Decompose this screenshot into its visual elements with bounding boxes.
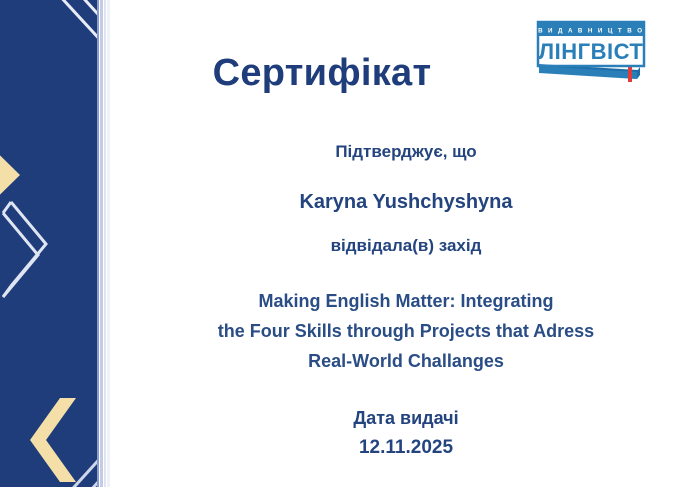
confirms-label: Підтверджує, що xyxy=(112,142,700,162)
band-divider-rule xyxy=(97,0,99,487)
band-divider-rule xyxy=(107,0,110,487)
band-divider-rule xyxy=(104,0,106,487)
issue-date-value: 12.11.2025 xyxy=(112,437,700,459)
diagonal-lines-top-icon xyxy=(58,0,97,44)
attended-label: відвідала(в) захід xyxy=(112,236,700,256)
chevron-left-icon xyxy=(30,398,76,482)
event-title-line: Real-World Challanges xyxy=(112,351,700,372)
certificate-content: Сертифікат Підтверджує, що Karyna Yushch… xyxy=(112,0,700,487)
decorative-left-band xyxy=(0,0,97,487)
chevron-right-outline-icon xyxy=(3,202,46,297)
certificate-page: В И Д А В Н И Ц Т В О ЛІНГВІСТ Сертифіка… xyxy=(0,0,700,487)
event-title-line: the Four Skills through Projects that Ad… xyxy=(112,321,700,342)
chevron-right-icon xyxy=(0,130,20,220)
band-divider-rule xyxy=(100,0,103,487)
band-pattern-svg xyxy=(0,0,97,487)
issue-date-label: Дата видачі xyxy=(112,408,700,429)
recipient-name: Karyna Yushchyshyna xyxy=(112,191,700,214)
diagonal-lines-bottom-icon xyxy=(66,454,97,487)
page-title: Сертифікат xyxy=(112,52,532,95)
event-title-line: Making English Matter: Integrating xyxy=(112,291,700,312)
